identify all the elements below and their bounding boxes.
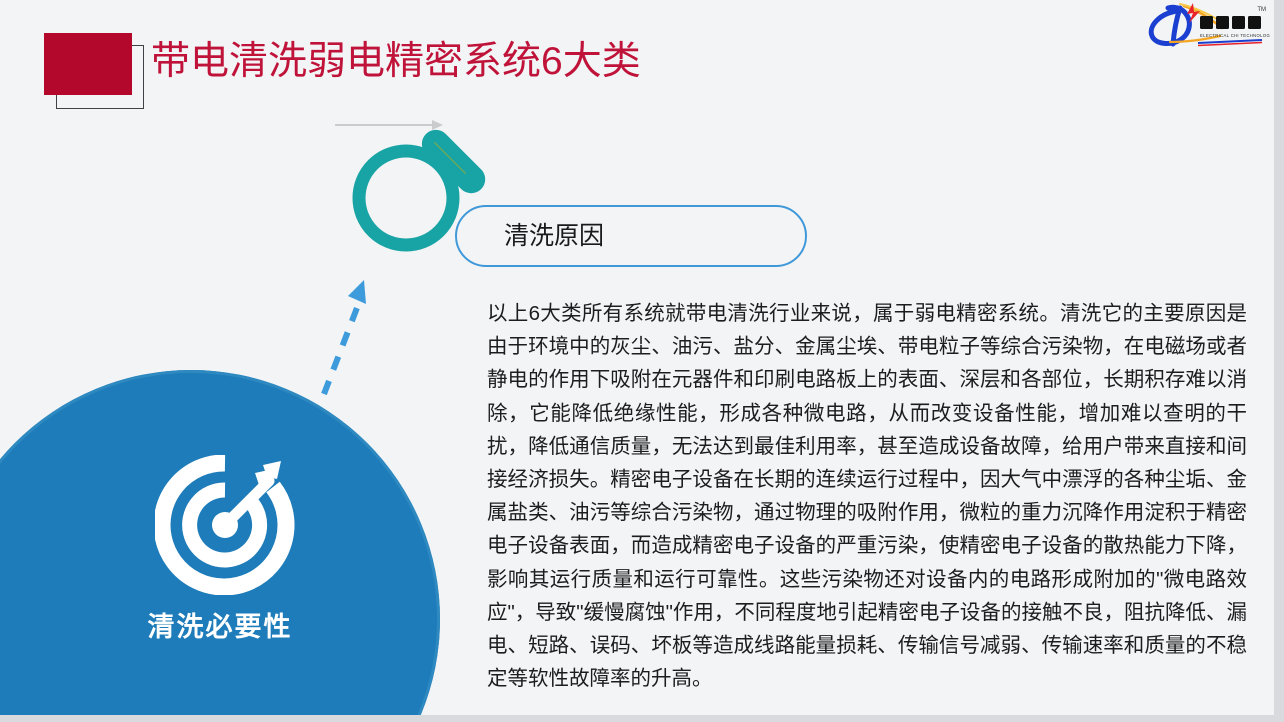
- title-accent-square: [44, 33, 132, 95]
- svg-text:ELECTRICAL CHI TECHNOLOGY: ELECTRICAL CHI TECHNOLOGY: [1200, 33, 1270, 38]
- company-logo: ELECTRICAL CHI TECHNOLOGY: [1140, 2, 1270, 50]
- slide-header: 带电清洗弱电精密系统6大类 ELECTRIC: [0, 0, 1274, 120]
- target-icon: [155, 455, 295, 595]
- dashed-arrow-icon: [316, 272, 386, 402]
- body-paragraph: 以上6大类所有系统就带电清洗行业来说，属于弱电精密系统。清洗它的主要原因是由于环…: [487, 297, 1247, 695]
- callout-pill-label: 清洗原因: [504, 220, 604, 252]
- page-title: 带电清洗弱电精密系统6大类: [151, 34, 641, 90]
- highlight-label: 清洗必要性: [0, 605, 440, 644]
- slide-canvas: 带电清洗弱电精密系统6大类 ELECTRIC: [0, 0, 1274, 715]
- trademark-mark: TM: [1257, 7, 1266, 13]
